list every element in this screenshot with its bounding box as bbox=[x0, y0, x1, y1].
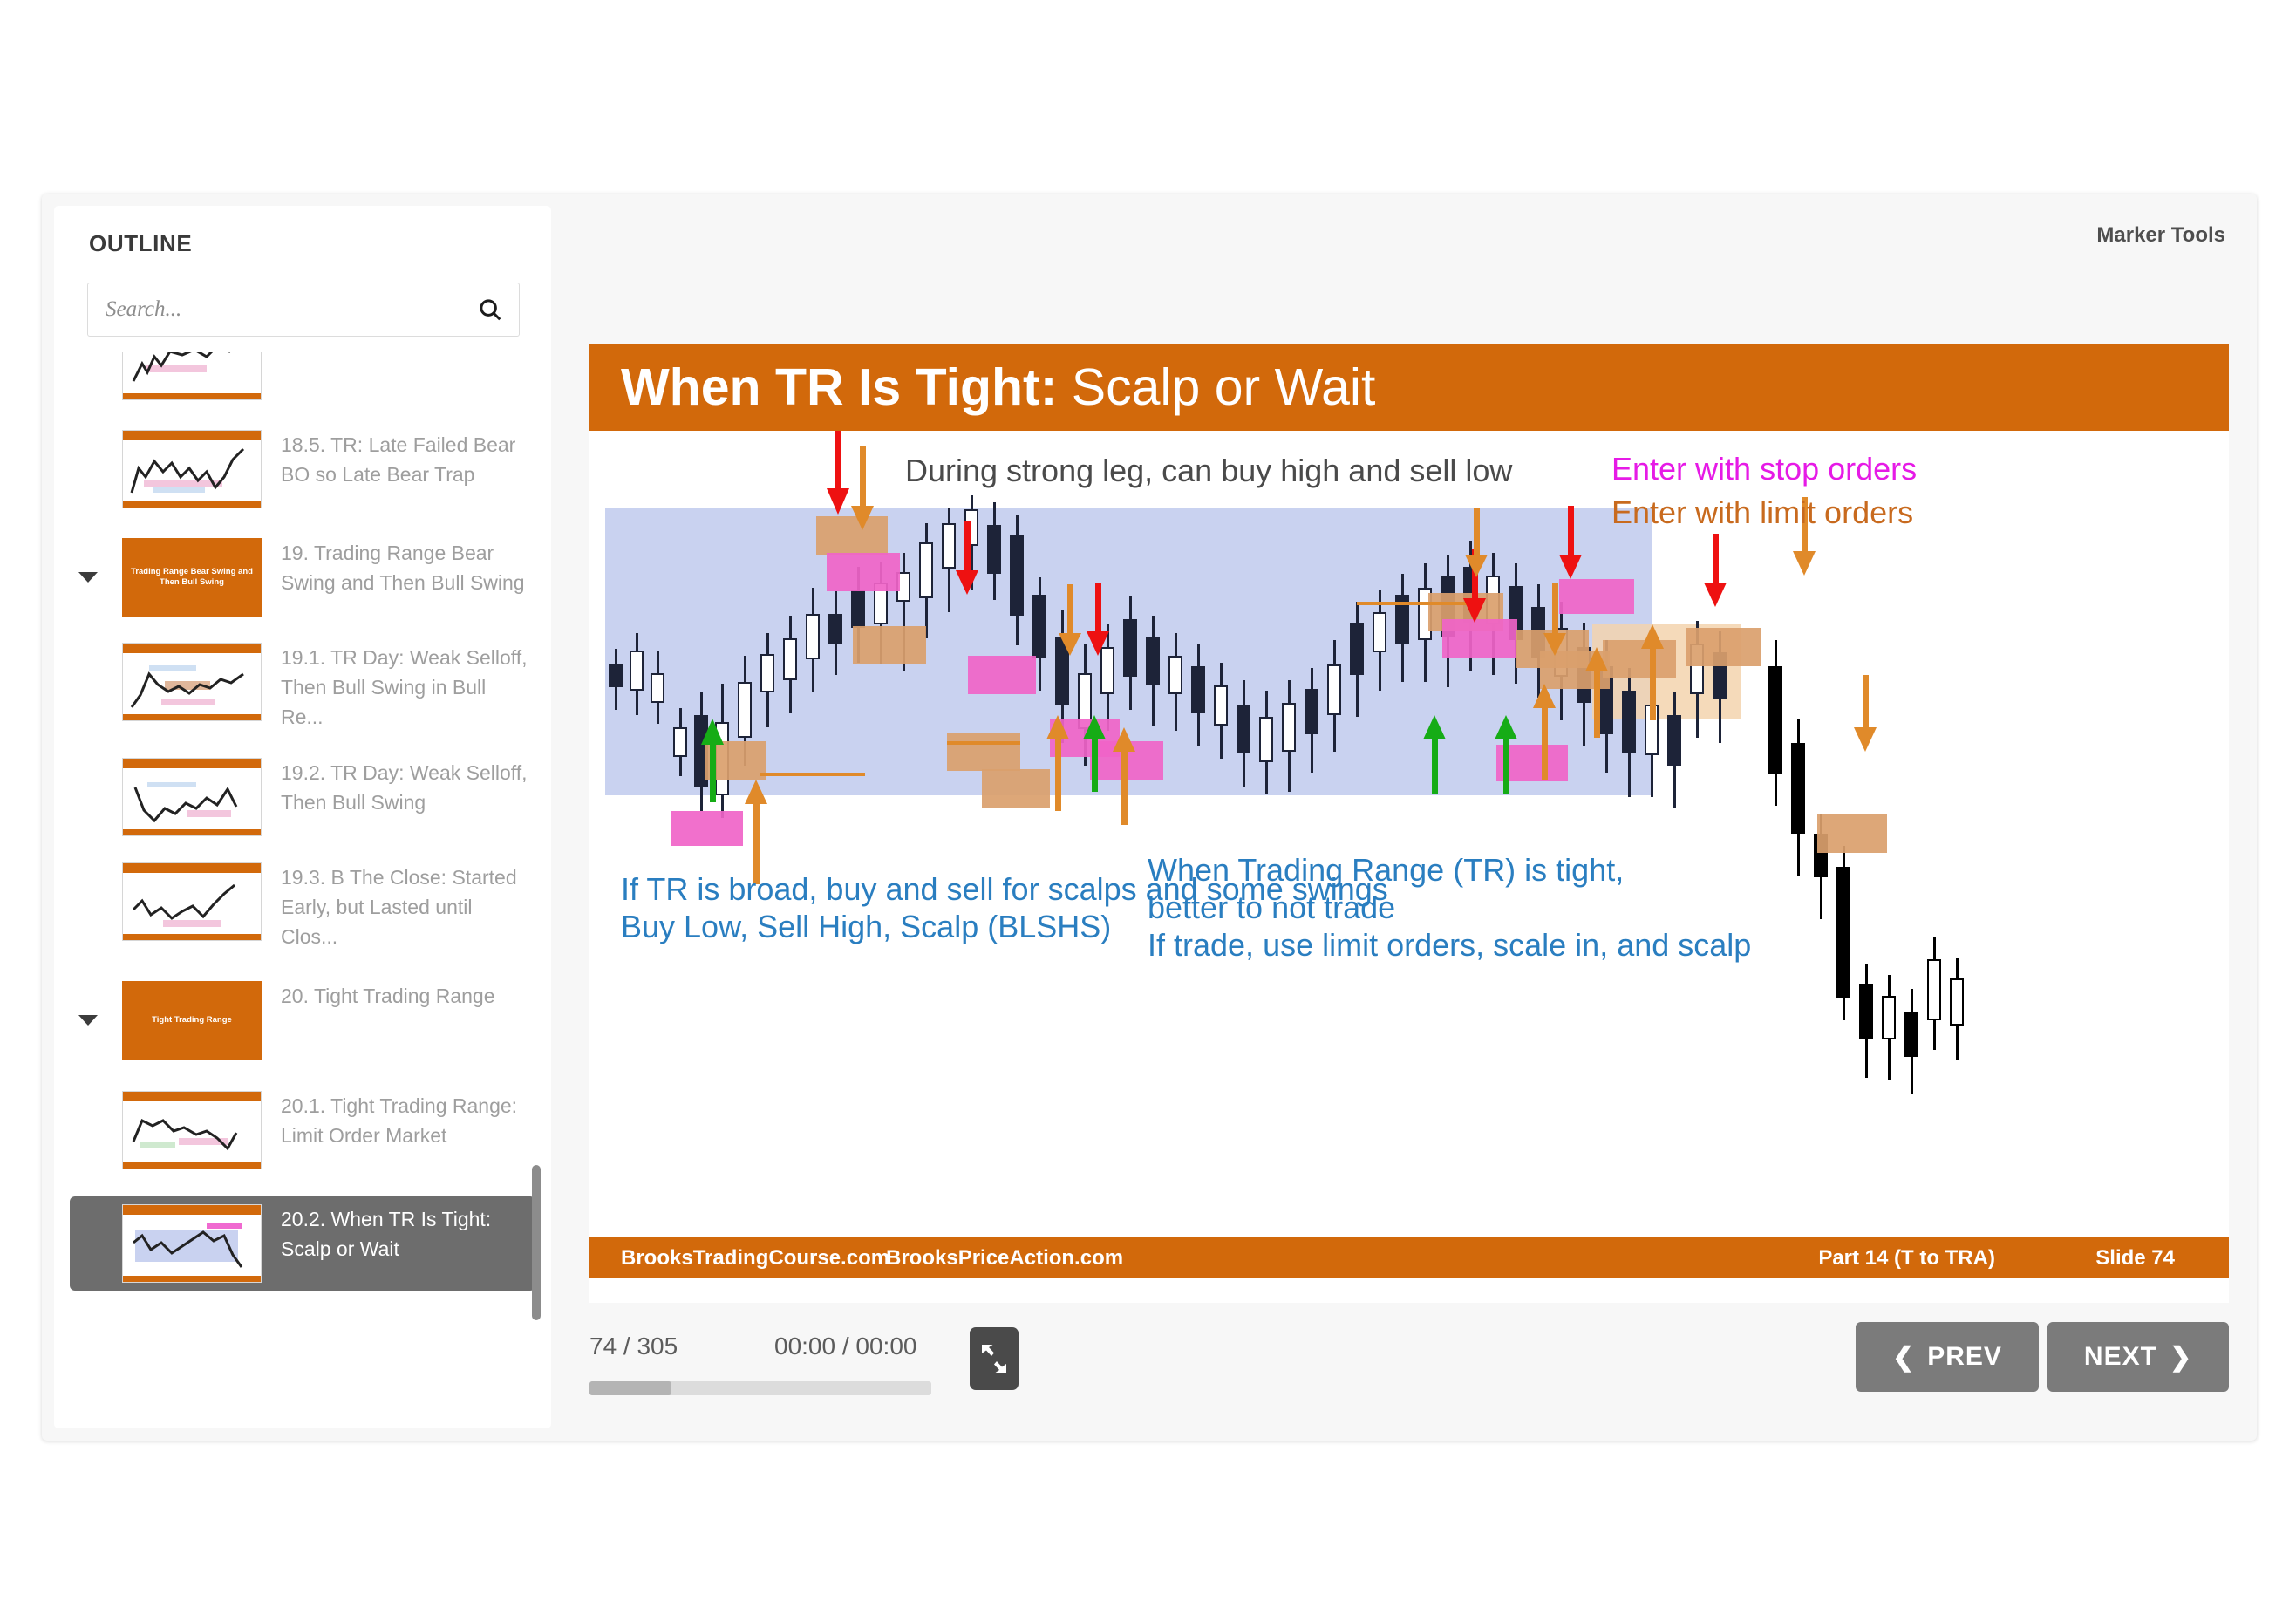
section-thumbnail-caption: Tight Trading Range bbox=[146, 1015, 237, 1026]
candle bbox=[1927, 937, 1941, 1050]
candle bbox=[1667, 692, 1681, 808]
candle bbox=[1305, 668, 1318, 773]
candle bbox=[987, 502, 1001, 600]
stop-order-box bbox=[1559, 579, 1634, 614]
collapse-arrows-icon[interactable] bbox=[970, 1327, 1019, 1390]
chevron-down-icon[interactable] bbox=[78, 1015, 98, 1026]
limit-order-arrow bbox=[745, 780, 767, 884]
limit-order-arrow bbox=[1533, 684, 1556, 780]
candle bbox=[1010, 515, 1024, 645]
section-thumbnail: Trading Range Bear Swing and Then Bull S… bbox=[122, 538, 262, 617]
footer-slide-number: Slide 74 bbox=[2095, 1246, 2175, 1271]
list-item-label: 19.1. TR Day: Weak Selloff, Then Bull Sw… bbox=[281, 643, 530, 732]
list-item-label: 20.2. When TR Is Tight: Scalp or Wait bbox=[281, 1204, 514, 1264]
candle bbox=[1791, 719, 1805, 876]
candle bbox=[806, 588, 820, 692]
search-input[interactable] bbox=[106, 283, 472, 336]
limit-order-line bbox=[760, 773, 865, 776]
list-item[interactable]: 19.2. TR Day: Weak Selloff, Then Bull Sw… bbox=[54, 750, 551, 844]
prev-button-label: PREV bbox=[1927, 1342, 2002, 1372]
marker-tools-label[interactable]: Marker Tools bbox=[2096, 223, 2225, 248]
limit-order-arrow bbox=[1543, 583, 1566, 656]
candle bbox=[1350, 602, 1364, 717]
footer-part-label: Part 14 (T to TRA) bbox=[1818, 1246, 1995, 1271]
stop-order-box bbox=[671, 811, 743, 846]
list-item-label: 19.2. TR Day: Weak Selloff, Then Bull Sw… bbox=[281, 758, 530, 817]
bear-stop-arrow bbox=[1559, 506, 1582, 579]
thumbnail-sparkline bbox=[126, 1103, 257, 1164]
list-item[interactable]: 20.2. When TR Is Tight: Scalp or Wait bbox=[70, 1196, 535, 1291]
slide-title-rest: Scalp or Wait bbox=[1057, 358, 1375, 416]
list-item[interactable]: 20.1. Tight Trading Range: Limit Order M… bbox=[54, 1083, 551, 1177]
candle bbox=[1214, 663, 1228, 759]
slide-title-bar: When TR Is Tight: Scalp or Wait bbox=[589, 344, 2229, 431]
candle bbox=[760, 633, 774, 727]
slide-thumbnail bbox=[122, 1091, 262, 1169]
slide-thumbnail bbox=[122, 758, 262, 836]
candle bbox=[1191, 644, 1205, 746]
candle bbox=[1327, 640, 1341, 752]
list-item-label: 20.1. Tight Trading Range: Limit Order M… bbox=[281, 1091, 530, 1150]
thumbnail-sparkline bbox=[126, 352, 257, 395]
candle bbox=[1395, 574, 1409, 682]
candle bbox=[1836, 846, 1850, 1020]
limit-order-arrow bbox=[1465, 508, 1488, 577]
stop-order-box bbox=[1442, 619, 1517, 658]
next-button-label: NEXT bbox=[2084, 1342, 2157, 1372]
outline-sidebar: OUTLINE Bear Channel bbox=[54, 206, 551, 1428]
slide-canvas: When TR Is Tight: Scalp or Wait bbox=[589, 344, 2229, 1303]
legend-limit-orders: Enter with limit orders bbox=[1611, 494, 1913, 531]
slide-title-strong: When TR Is Tight: bbox=[621, 358, 1057, 416]
outline-list[interactable]: Bear Channel 18.5. TR: Late Failed Bear … bbox=[54, 352, 551, 1425]
bear-stop-arrow bbox=[1087, 583, 1109, 656]
bull-stop-arrow bbox=[701, 719, 724, 802]
chevron-down-icon[interactable] bbox=[78, 572, 98, 583]
limit-order-line bbox=[947, 741, 1020, 745]
stop-order-box bbox=[968, 656, 1036, 694]
candle bbox=[609, 649, 623, 710]
progress-bar-fill bbox=[589, 1381, 671, 1395]
candle bbox=[1950, 958, 1964, 1060]
annotation-tight-tr: When Trading Range (TR) is tight, better… bbox=[1148, 851, 1751, 964]
candle bbox=[1904, 989, 1918, 1094]
limit-order-arrow bbox=[1046, 715, 1069, 811]
slide-footer: BrooksTradingCourse.com BrooksPriceActio… bbox=[589, 1237, 2229, 1278]
bear-stop-arrow bbox=[827, 431, 849, 515]
search-icon[interactable] bbox=[477, 296, 503, 323]
candle bbox=[673, 708, 687, 776]
list-item[interactable]: Bear Channel bbox=[54, 352, 551, 408]
candlestick-chart: During strong leg, can buy high and sell… bbox=[589, 431, 2229, 1251]
limit-order-arrow bbox=[1113, 727, 1135, 825]
limit-order-box bbox=[853, 626, 926, 664]
candle bbox=[1168, 633, 1182, 731]
list-item[interactable]: 18.5. TR: Late Failed Bear BO so Late Be… bbox=[54, 422, 551, 516]
limit-order-arrow bbox=[1585, 647, 1608, 738]
list-item[interactable]: Tight Trading Range 20. Tight Trading Ra… bbox=[54, 973, 551, 1067]
footer-site-trading-course: BrooksTradingCourse.com bbox=[621, 1246, 889, 1271]
search-box[interactable] bbox=[87, 283, 520, 337]
page-title: When TR Is Tight: Scalp or Wait bbox=[621, 358, 1375, 416]
list-item-label: 18.5. TR: Late Failed Bear BO so Late Be… bbox=[281, 430, 530, 489]
limit-order-arrow bbox=[851, 446, 874, 530]
bear-stop-arrow bbox=[956, 521, 978, 595]
list-item[interactable]: 19.1. TR Day: Weak Selloff, Then Bull Sw… bbox=[54, 635, 551, 739]
prev-button[interactable]: ❮ PREV bbox=[1856, 1322, 2039, 1392]
slide-thumbnail bbox=[122, 1204, 262, 1283]
limit-order-arrow bbox=[1854, 675, 1877, 752]
thumbnail-sparkline bbox=[126, 1216, 257, 1278]
limit-order-arrow bbox=[1641, 624, 1664, 720]
candle bbox=[1282, 680, 1296, 792]
thumbnail-sparkline bbox=[126, 655, 257, 716]
list-item-label: 19. Trading Range Bear Swing and Then Bu… bbox=[281, 538, 530, 597]
list-item[interactable]: Trading Range Bear Swing and Then Bull S… bbox=[54, 530, 551, 624]
candle bbox=[1882, 975, 1896, 1080]
candle bbox=[1259, 691, 1273, 794]
candle bbox=[1622, 668, 1636, 797]
slide-thumbnail bbox=[122, 430, 262, 508]
chevron-left-icon: ❮ bbox=[1892, 1342, 1915, 1373]
slide-thumbnail bbox=[122, 643, 262, 721]
presentation-player-window: OUTLINE Bear Channel bbox=[42, 194, 2257, 1441]
bear-stop-arrow bbox=[1704, 534, 1727, 607]
limit-order-box bbox=[1817, 814, 1887, 853]
candle bbox=[1768, 640, 1782, 806]
list-item-label: 19.3. B The Close: Started Early, but La… bbox=[281, 862, 530, 951]
section-thumbnail: Tight Trading Range bbox=[122, 981, 262, 1060]
limit-order-arrow bbox=[1059, 584, 1081, 656]
candle bbox=[828, 591, 842, 675]
slide-counter: 74 / 305 bbox=[589, 1332, 678, 1360]
limit-order-box bbox=[1686, 628, 1761, 666]
bull-stop-arrow bbox=[1083, 715, 1106, 792]
player-controls: 74 / 305 00:00 / 00:00 ❮ PREV NEXT ❯ bbox=[589, 1308, 2229, 1413]
footer-site-price-action: BrooksPriceAction.com bbox=[886, 1246, 1123, 1271]
candle bbox=[942, 508, 956, 612]
slide-stage: Marker Tools When TR Is Tight: Scalp or … bbox=[565, 206, 2245, 1428]
candle bbox=[1237, 680, 1250, 787]
slide-thumbnail bbox=[122, 862, 262, 941]
outline-panel-title: OUTLINE bbox=[89, 230, 192, 257]
candle bbox=[651, 651, 664, 724]
outline-scrollbar[interactable] bbox=[532, 1165, 541, 1320]
candle bbox=[1859, 964, 1873, 1078]
limit-order-box bbox=[947, 733, 1020, 771]
time-display: 00:00 / 00:00 bbox=[774, 1332, 916, 1360]
limit-order-box bbox=[982, 769, 1050, 808]
section-thumbnail-caption: Trading Range Bear Swing and Then Bull S… bbox=[123, 567, 261, 588]
bull-stop-arrow bbox=[1495, 715, 1517, 794]
candle bbox=[630, 633, 644, 715]
list-item[interactable]: 19.3. B The Close: Started Early, but La… bbox=[54, 855, 551, 959]
list-item-label: 20. Tight Trading Range bbox=[281, 981, 495, 1011]
next-button[interactable]: NEXT ❯ bbox=[2047, 1322, 2229, 1392]
slide-thumbnail bbox=[122, 352, 262, 400]
thumbnail-sparkline bbox=[126, 442, 257, 503]
candle bbox=[1123, 596, 1137, 710]
stop-order-box bbox=[827, 553, 900, 591]
thumbnail-sparkline bbox=[126, 875, 257, 936]
candle bbox=[919, 523, 933, 638]
progress-bar[interactable] bbox=[589, 1381, 931, 1395]
candle bbox=[1146, 616, 1160, 726]
legend-stop-orders: Enter with stop orders bbox=[1611, 450, 1917, 487]
bull-stop-arrow bbox=[1423, 715, 1446, 794]
limit-order-line bbox=[1357, 602, 1479, 605]
chevron-right-icon: ❯ bbox=[2170, 1342, 2192, 1373]
annotation-strong-leg: During strong leg, can buy high and sell… bbox=[905, 452, 1512, 489]
thumbnail-sparkline bbox=[126, 770, 257, 831]
candle bbox=[783, 616, 797, 713]
limit-order-box bbox=[1603, 640, 1676, 678]
